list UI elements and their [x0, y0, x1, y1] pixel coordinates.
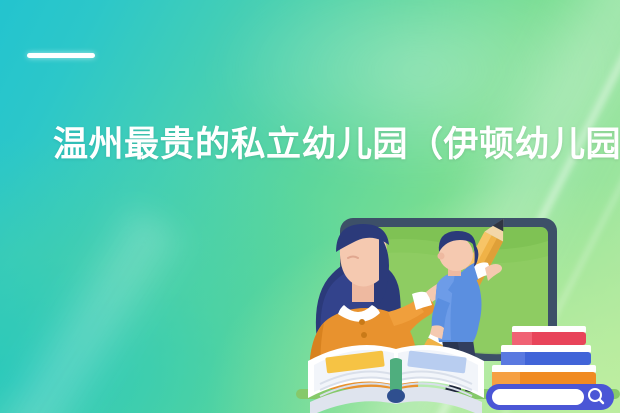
search-input-field: [492, 389, 584, 405]
search-bar: [486, 384, 614, 410]
education-illustration: [296, 206, 620, 413]
magnifier-icon: [585, 386, 607, 408]
open-book-icon: [308, 345, 484, 413]
title-accent-rule: [27, 53, 95, 58]
article-cover-banner: 温州最贵的私立幼儿园（伊顿幼儿园: [0, 0, 620, 413]
page-title: 温州最贵的私立幼儿园（伊顿幼儿园: [53, 123, 613, 168]
